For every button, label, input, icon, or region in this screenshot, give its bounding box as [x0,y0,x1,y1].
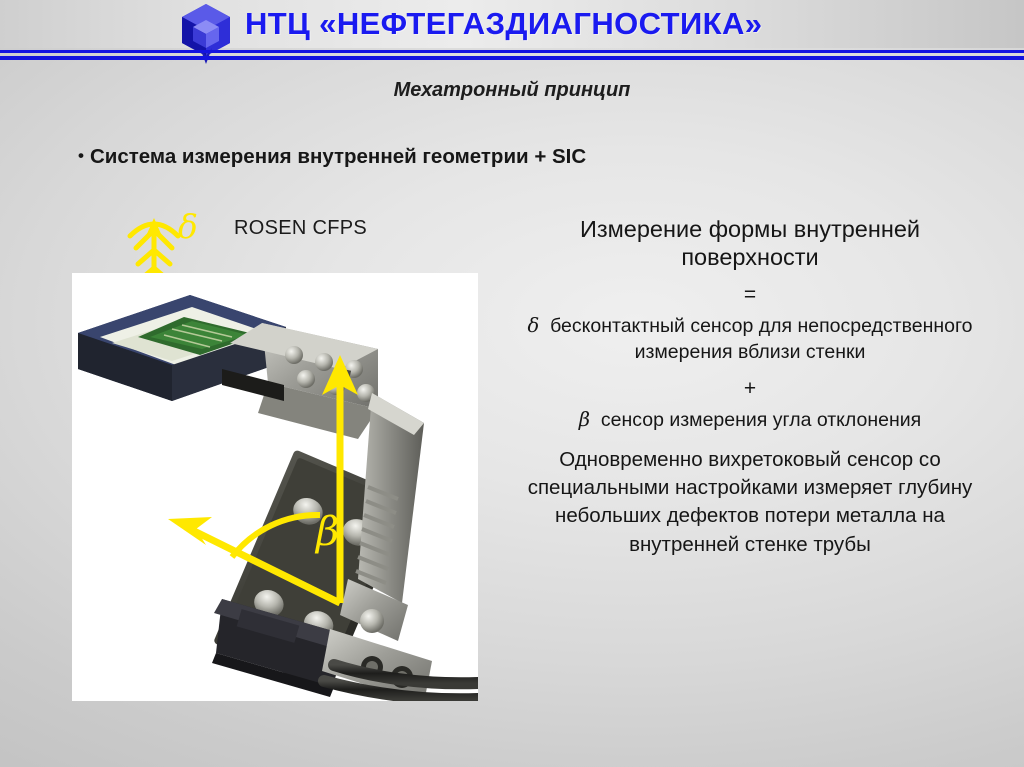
explanation-heading: Измерение формы внутренней поверхности [520,216,980,271]
slide-root: НТЦ «НЕФТЕГАЗДИАГНОСТИКА» Мехатронный пр… [0,0,1024,767]
brand-title: НТЦ «НЕФТЕГАЗДИАГНОСТИКА» [245,6,762,42]
eddy-current-paragraph: Одновременно вихретоковый сенсор со спец… [520,446,980,559]
delta-symbol-inline: δ [528,314,540,337]
header-rule-bottom [0,56,1024,60]
delta-definition: δ бесконтактный сенсор для непосредствен… [520,313,980,365]
operator-plus: + [520,373,980,405]
bullet-line: •Система измерения внутренней геометрии … [78,145,586,169]
page-title: Мехатронный принцип [0,79,1024,102]
device-photo-illustration [72,273,478,701]
device-photo [72,273,478,701]
spacer [520,433,980,446]
cube-logo-icon [179,2,233,64]
delta-definition-text: бесконтактный сенсор для непосредственно… [550,315,972,363]
operator-equals: = [520,279,980,311]
figure-caption: ROSEN CFPS [234,217,367,240]
explanation-column: Измерение формы внутренней поверхности =… [520,216,980,559]
header-rule-top [0,50,1024,53]
bullet-dot-icon: • [78,146,84,166]
beta-symbol: β [316,512,339,552]
beta-definition-text: сенсор измерения угла отклонения [601,409,921,431]
delta-symbol: δ [178,210,198,243]
beta-symbol-inline: β [579,408,590,431]
beta-definition: β сенсор измерения угла отклонения [520,407,980,433]
bullet-label: Система измерения внутренней геометрии +… [90,145,586,168]
slide-header: НТЦ «НЕФТЕГАЗДИАГНОСТИКА» [0,0,1024,62]
